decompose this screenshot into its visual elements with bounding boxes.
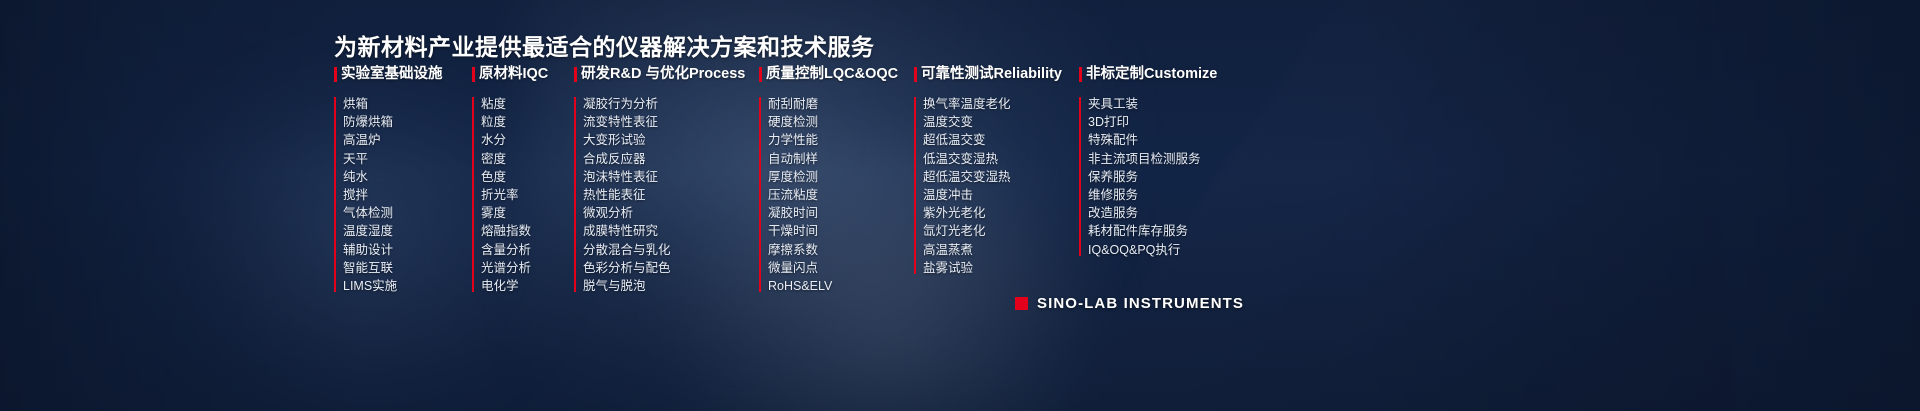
list-item[interactable]: 微观分析 [583, 204, 759, 222]
list-item[interactable]: 厚度检测 [768, 168, 914, 186]
list-item[interactable]: 天平 [343, 150, 472, 168]
list-item[interactable]: 低温交变湿热 [923, 150, 1079, 168]
list-item[interactable]: 泡沫特性表征 [583, 168, 759, 186]
list-item[interactable]: 维修服务 [1088, 186, 1279, 204]
list-item[interactable]: 智能互联 [343, 259, 472, 277]
category-item-list: 烘箱 防爆烘箱 高温炉 天平 纯水 搅拌 气体检测 温度湿度 辅助设计 智能互联… [334, 95, 472, 295]
list-item[interactable]: 热性能表征 [583, 186, 759, 204]
list-item[interactable]: 夹具工装 [1088, 95, 1279, 113]
list-item[interactable]: 压流粘度 [768, 186, 914, 204]
category-item-list: 换气率温度老化 温度交变 超低温交变 低温交变湿热 超低温交变湿热 温度冲击 紫… [914, 95, 1079, 277]
list-item[interactable]: 辅助设计 [343, 241, 472, 259]
category-column-rd-process: 研发R&D 与优化Process 凝胶行为分析 流变特性表征 大变形试验 合成反… [574, 66, 759, 295]
list-item[interactable]: 电化学 [481, 277, 574, 295]
list-item[interactable]: 干燥时间 [768, 222, 914, 240]
list-item[interactable]: 粘度 [481, 95, 574, 113]
list-item[interactable]: 改造服务 [1088, 204, 1279, 222]
list-item[interactable]: LIMS实施 [343, 277, 472, 295]
list-item[interactable]: 搅拌 [343, 186, 472, 204]
list-item[interactable]: 烘箱 [343, 95, 472, 113]
list-item[interactable]: 脱气与脱泡 [583, 277, 759, 295]
list-item[interactable]: 非主流项目检测服务 [1088, 150, 1279, 168]
list-item[interactable]: 凝胶时间 [768, 204, 914, 222]
brand-logo[interactable]: SINO-LAB INSTRUMENTS [1015, 295, 1244, 312]
list-item[interactable]: 超低温交变 [923, 131, 1079, 149]
list-item[interactable]: 硬度检测 [768, 113, 914, 131]
category-header: 实验室基础设施 [334, 66, 472, 82]
page-title: 为新材料产业提供最适合的仪器解决方案和技术服务 [334, 28, 875, 62]
list-item[interactable]: 光谱分析 [481, 259, 574, 277]
list-item[interactable]: 保养服务 [1088, 168, 1279, 186]
list-item[interactable]: 温度交变 [923, 113, 1079, 131]
list-item[interactable]: 高温蒸煮 [923, 241, 1079, 259]
list-item[interactable]: 耐刮耐磨 [768, 95, 914, 113]
category-header: 研发R&D 与优化Process [574, 66, 759, 82]
list-item[interactable]: 3D打印 [1088, 113, 1279, 131]
list-item[interactable]: 折光率 [481, 186, 574, 204]
list-item[interactable]: 色度 [481, 168, 574, 186]
list-item[interactable]: 力学性能 [768, 131, 914, 149]
list-item[interactable]: IQ&OQ&PQ执行 [1088, 241, 1279, 259]
brand-name: SINO-LAB INSTRUMENTS [1037, 295, 1244, 312]
category-item-list: 凝胶行为分析 流变特性表征 大变形试验 合成反应器 泡沫特性表征 热性能表征 微… [574, 95, 759, 295]
list-item[interactable]: 氙灯光老化 [923, 222, 1079, 240]
category-item-list: 夹具工装 3D打印 特殊配件 非主流项目检测服务 保养服务 维修服务 改造服务 … [1079, 95, 1279, 259]
banner-content: 为新材料产业提供最适合的仪器解决方案和技术服务 实验室基础设施 烘箱 防爆烘箱 … [0, 0, 1920, 411]
list-item[interactable]: 粒度 [481, 113, 574, 131]
list-item[interactable]: 分散混合与乳化 [583, 241, 759, 259]
list-item[interactable]: 雾度 [481, 204, 574, 222]
list-item[interactable]: 纯水 [343, 168, 472, 186]
list-item[interactable]: 流变特性表征 [583, 113, 759, 131]
category-header: 质量控制LQC&OQC [759, 66, 914, 82]
list-item[interactable]: 温度湿度 [343, 222, 472, 240]
category-column-raw-material-iqc: 原材料IQC 粘度 粒度 水分 密度 色度 折光率 雾度 熔融指数 含量分析 光… [472, 66, 574, 295]
list-item[interactable]: 大变形试验 [583, 131, 759, 149]
list-item[interactable]: 特殊配件 [1088, 131, 1279, 149]
category-item-list: 耐刮耐磨 硬度检测 力学性能 自动制样 厚度检测 压流粘度 凝胶时间 干燥时间 … [759, 95, 914, 295]
list-item[interactable]: 摩擦系数 [768, 241, 914, 259]
list-item[interactable]: 水分 [481, 131, 574, 149]
category-column-lab-infrastructure: 实验室基础设施 烘箱 防爆烘箱 高温炉 天平 纯水 搅拌 气体检测 温度湿度 辅… [334, 66, 472, 295]
list-item[interactable]: RoHS&ELV [768, 277, 914, 295]
list-item[interactable]: 换气率温度老化 [923, 95, 1079, 113]
list-item[interactable]: 紫外光老化 [923, 204, 1079, 222]
category-header: 原材料IQC [472, 66, 574, 82]
list-item[interactable]: 自动制样 [768, 150, 914, 168]
list-item[interactable]: 高温炉 [343, 131, 472, 149]
list-item[interactable]: 盐雾试验 [923, 259, 1079, 277]
list-item[interactable]: 温度冲击 [923, 186, 1079, 204]
list-item[interactable]: 超低温交变湿热 [923, 168, 1079, 186]
category-column-reliability: 可靠性测试Reliability 换气率温度老化 温度交变 超低温交变 低温交变… [914, 66, 1079, 277]
category-column-quality-control: 质量控制LQC&OQC 耐刮耐磨 硬度检测 力学性能 自动制样 厚度检测 压流粘… [759, 66, 914, 295]
red-square-logo-mark [1015, 297, 1028, 310]
category-column-customize: 非标定制Customize 夹具工装 3D打印 特殊配件 非主流项目检测服务 保… [1079, 66, 1279, 259]
list-item[interactable]: 防爆烘箱 [343, 113, 472, 131]
list-item[interactable]: 凝胶行为分析 [583, 95, 759, 113]
list-item[interactable]: 微量闪点 [768, 259, 914, 277]
list-item[interactable]: 密度 [481, 150, 574, 168]
banner-root: 为新材料产业提供最适合的仪器解决方案和技术服务 实验室基础设施 烘箱 防爆烘箱 … [0, 0, 1920, 411]
category-columns: 实验室基础设施 烘箱 防爆烘箱 高温炉 天平 纯水 搅拌 气体检测 温度湿度 辅… [334, 66, 1279, 295]
list-item[interactable]: 熔融指数 [481, 222, 574, 240]
category-header: 非标定制Customize [1079, 66, 1279, 82]
list-item[interactable]: 色彩分析与配色 [583, 259, 759, 277]
list-item[interactable]: 耗材配件库存服务 [1088, 222, 1279, 240]
list-item[interactable]: 成膜特性研究 [583, 222, 759, 240]
list-item[interactable]: 含量分析 [481, 241, 574, 259]
list-item[interactable]: 合成反应器 [583, 150, 759, 168]
category-item-list: 粘度 粒度 水分 密度 色度 折光率 雾度 熔融指数 含量分析 光谱分析 电化学 [472, 95, 574, 295]
category-header: 可靠性测试Reliability [914, 66, 1079, 82]
list-item[interactable]: 气体检测 [343, 204, 472, 222]
